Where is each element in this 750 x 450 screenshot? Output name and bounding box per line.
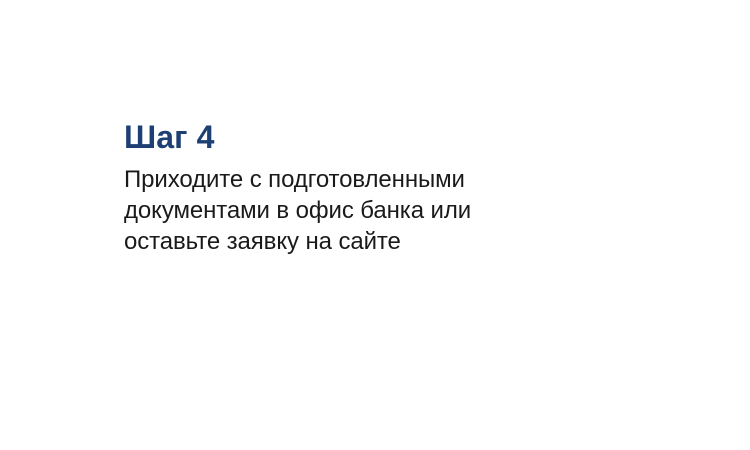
step-description-line: Приходите с подготовленными xyxy=(124,164,644,195)
step-content-block: Шаг 4 Приходите с подготовленными докуме… xyxy=(124,118,644,257)
step-description-line: документами в офис банка или xyxy=(124,195,644,226)
step-heading: Шаг 4 xyxy=(124,118,644,156)
step-description: Приходите с подготовленными документами … xyxy=(124,164,644,257)
step-description-line: оставьте заявку на сайте xyxy=(124,226,644,257)
slide-canvas: Шаг 4 Приходите с подготовленными докуме… xyxy=(0,0,750,450)
